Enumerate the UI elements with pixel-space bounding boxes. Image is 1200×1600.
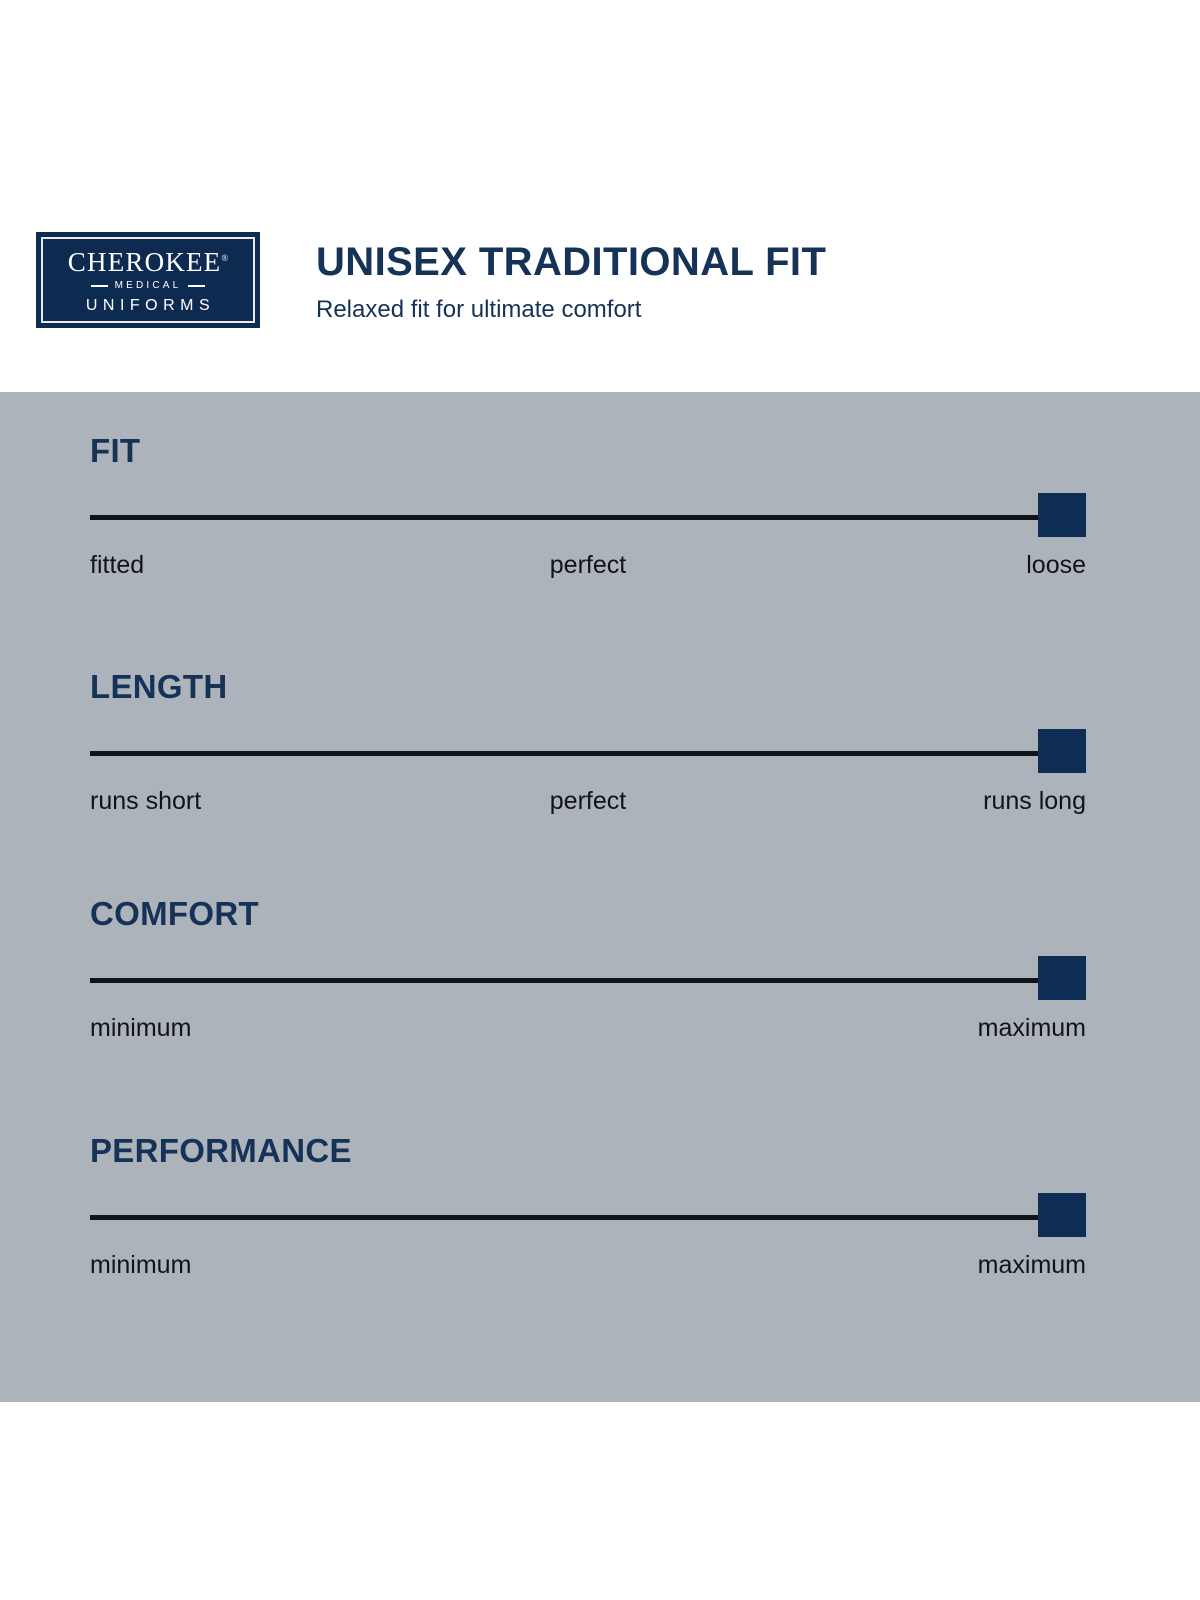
registered-trademark-icon: ® xyxy=(221,253,228,263)
logo-medical-row: MEDICAL xyxy=(91,281,206,291)
header-text-block: UNISEX TRADITIONAL FIT Relaxed fit for u… xyxy=(316,240,1116,325)
rating-group-length: LENGTH runs short perfect runs long xyxy=(90,670,1086,822)
logo-rule-right-icon xyxy=(188,285,205,287)
rating-slider[interactable] xyxy=(90,729,1086,777)
rating-heading: LENGTH xyxy=(90,670,1086,703)
slider-label-right: maximum xyxy=(90,1015,1086,1043)
footer-whitespace xyxy=(0,1402,1200,1600)
logo-medical-text: MEDICAL xyxy=(115,281,182,291)
logo-rule-left-icon xyxy=(91,285,108,287)
slider-marker[interactable] xyxy=(1038,956,1086,1000)
rating-group-comfort: COMFORT minimum maximum xyxy=(90,897,1086,1049)
slider-label-right: runs long xyxy=(90,788,1086,816)
rating-slider[interactable] xyxy=(90,956,1086,1004)
rating-heading: PERFORMANCE xyxy=(90,1134,1086,1167)
slider-marker[interactable] xyxy=(1038,493,1086,537)
slider-track xyxy=(90,1215,1086,1220)
slider-track xyxy=(90,515,1086,520)
slider-marker[interactable] xyxy=(1038,1193,1086,1237)
rating-group-fit: FIT fitted perfect loose xyxy=(90,434,1086,586)
logo-uniforms-text: UNIFORMS xyxy=(81,298,215,314)
slider-labels: fitted perfect loose xyxy=(90,552,1086,586)
slider-labels: minimum maximum xyxy=(90,1252,1086,1286)
page-header: CHEROKEE® MEDICAL UNIFORMS UNISEX TRADIT… xyxy=(0,0,1200,392)
logo-brand-word: CHEROKEE xyxy=(68,247,222,277)
page-subtitle: Relaxed fit for ultimate comfort xyxy=(316,296,1116,325)
page-title: UNISEX TRADITIONAL FIT xyxy=(316,240,1116,284)
slider-track xyxy=(90,978,1086,983)
slider-labels: runs short perfect runs long xyxy=(90,788,1086,822)
slider-track xyxy=(90,751,1086,756)
cherokee-logo: CHEROKEE® MEDICAL UNIFORMS xyxy=(36,232,260,328)
slider-label-right: maximum xyxy=(90,1252,1086,1280)
fit-guide-page: CHEROKEE® MEDICAL UNIFORMS UNISEX TRADIT… xyxy=(0,0,1200,1600)
slider-labels: minimum maximum xyxy=(90,1015,1086,1049)
rating-group-performance: PERFORMANCE minimum maximum xyxy=(90,1134,1086,1286)
slider-marker[interactable] xyxy=(1038,729,1086,773)
fit-ratings-panel: FIT fitted perfect loose LENGTH runs sho… xyxy=(0,392,1200,1402)
rating-slider[interactable] xyxy=(90,1193,1086,1241)
rating-slider[interactable] xyxy=(90,493,1086,541)
logo-frame: CHEROKEE® MEDICAL UNIFORMS xyxy=(41,237,255,323)
slider-label-right: loose xyxy=(90,552,1086,580)
rating-heading: COMFORT xyxy=(90,897,1086,930)
rating-heading: FIT xyxy=(90,434,1086,467)
logo-brand-name: CHEROKEE® xyxy=(68,249,228,276)
